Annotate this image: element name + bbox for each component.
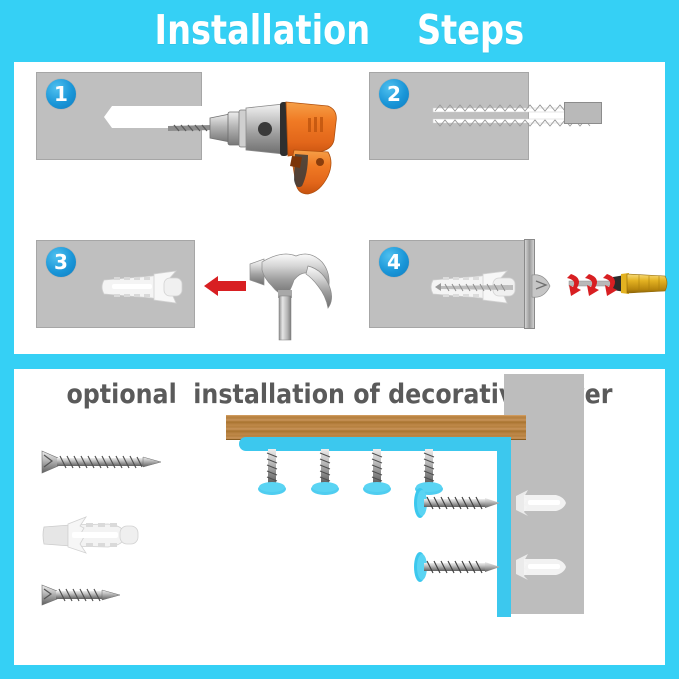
horizontal-screw-2 <box>412 551 502 583</box>
step-badge-1: 1 <box>46 79 76 109</box>
assembly-scene <box>14 369 665 665</box>
rotation-arrows-red-icon <box>561 270 623 298</box>
embedded-anchor-2 <box>512 554 574 580</box>
horizontal-screw-1 <box>412 487 502 519</box>
vertical-screw-1 <box>257 449 287 501</box>
step-badge-4: 4 <box>379 247 409 277</box>
screw-head <box>532 273 554 299</box>
claw-hammer-icon <box>248 240 338 340</box>
title-band: Installation Steps <box>0 0 679 60</box>
left-arrow-red-icon <box>204 275 246 297</box>
installation-steps-infographic: Installation Steps 1 <box>0 0 679 679</box>
steps-panel: 1 <box>14 62 665 354</box>
plastic-wall-anchor-icon <box>98 270 196 304</box>
step-badge-3: 3 <box>46 247 76 277</box>
anchor-end-block <box>564 102 602 124</box>
page-title: Installation Steps <box>155 6 525 54</box>
anchor-with-screw-icon <box>427 270 527 304</box>
step-1-drill-hole: 1 <box>36 72 336 202</box>
vertical-screw-3 <box>362 449 392 501</box>
embedded-anchor-1 <box>512 490 574 516</box>
step-2-clean-hole: 2 <box>369 72 669 202</box>
step-badge-2: 2 <box>379 79 409 109</box>
step-4-drive-screw: 4 <box>369 240 669 340</box>
power-drill-icon <box>168 88 338 198</box>
vertical-screw-2 <box>310 449 340 501</box>
step-3-hammer-anchor: 3 <box>36 240 336 340</box>
bracket-vertical-arm <box>497 437 511 617</box>
decorative-cover-panel: optional installation of decorative cove… <box>14 369 665 665</box>
